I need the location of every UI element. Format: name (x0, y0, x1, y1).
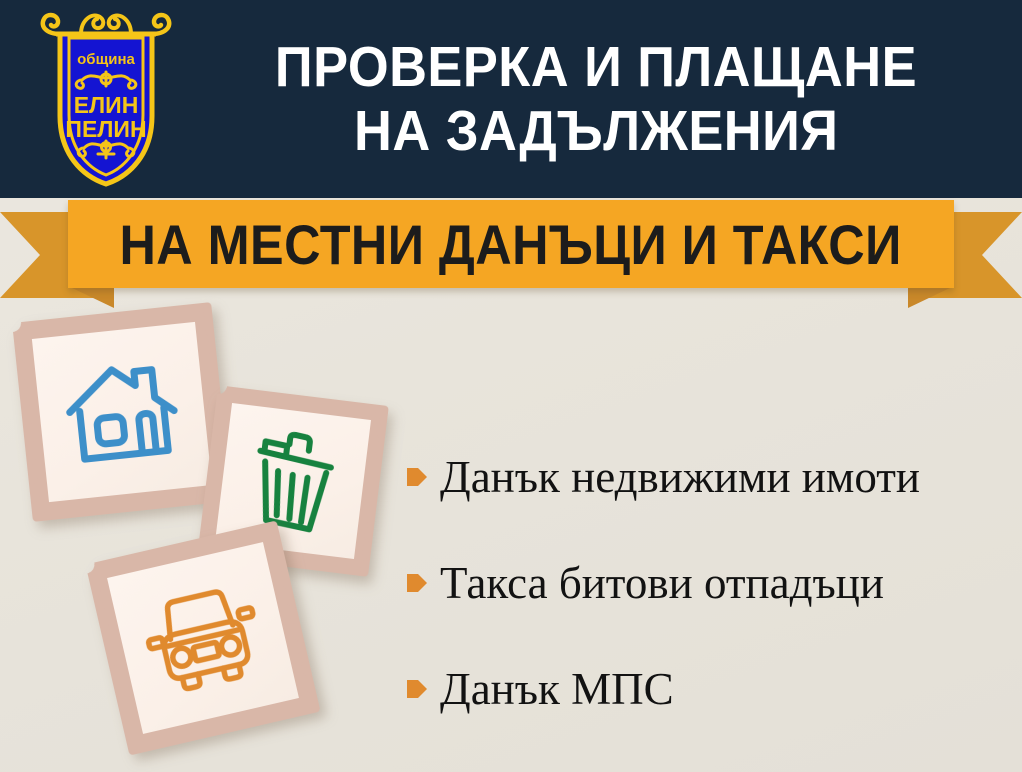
stamp-scallop (302, 387, 322, 407)
stamp-face-house (32, 322, 212, 502)
stamp-scallop (118, 544, 140, 566)
list-item[interactable]: Такса битови отпадъци (402, 530, 1020, 636)
stamp-scallop (300, 657, 322, 679)
stamp-scallop (371, 456, 391, 476)
stamp-scallop (365, 507, 385, 527)
house-icon (61, 354, 183, 469)
stamp-scallop (9, 376, 29, 396)
stamp-scallop (97, 649, 119, 671)
stamp-scallop (135, 540, 157, 562)
stamp-scallop (280, 570, 302, 592)
stamp-scallop (336, 391, 356, 411)
crest-top-label: община (77, 51, 135, 68)
stamp-scallop (232, 719, 254, 741)
ribbon-label: НА МЕСТНИ ДАНЪЦИ И ТАКСИ (120, 212, 902, 277)
stamp-scallop (204, 319, 224, 339)
arrow-bullet-icon (402, 674, 432, 704)
list-item[interactable]: Данък недвижими имоти (402, 424, 1020, 530)
stamp-scallop (109, 701, 131, 723)
stamp-scallop (81, 580, 103, 602)
stamp-scallop (123, 502, 143, 522)
stamp-scallop (376, 422, 396, 442)
stamp-scallop (234, 378, 254, 398)
stamp-scallop (3, 322, 23, 342)
stamp-scallop (361, 541, 381, 561)
list-item[interactable]: Данък МПС (402, 636, 1020, 742)
stamp-scallop (284, 588, 306, 610)
stamp-scallop (369, 473, 389, 493)
stamp-scallop (285, 385, 305, 405)
stamp-scallop (367, 490, 387, 510)
stamp-scallop (208, 355, 228, 375)
stamp-scallop (332, 564, 352, 584)
page-title: ПРОВЕРКА И ПЛАЩАНЕ НА ЗАДЪЛЖЕНИЯ (186, 0, 1006, 198)
stamp-scallop (29, 310, 49, 330)
stamp-scallop (104, 503, 124, 523)
stamp-scallop (206, 337, 226, 357)
ribbon-banner: НА МЕСТНИ ДАНЪЦИ И ТАКСИ (68, 200, 954, 288)
stamp-scallop (68, 507, 88, 527)
stamp-scallop (177, 496, 197, 516)
stamp-scallop (117, 736, 139, 758)
stamp-scallop (288, 605, 310, 627)
list-item-label: Такса битови отпадъци (440, 559, 884, 607)
services-list: Данък недвижими имоти Такса битови отпад… (402, 424, 1020, 742)
stamp-scallop (319, 389, 339, 409)
stamp-house (12, 302, 232, 522)
stamp-scallop (251, 380, 271, 400)
arrow-bullet-icon (402, 462, 432, 492)
stamp-scallop (11, 394, 31, 414)
header-band: община ЕЛИН ПЕЛИН ПРОВЕРКА И ПЛАЩАНЕ НА … (0, 0, 1022, 198)
stamp-scallop (101, 548, 123, 570)
stamp-scallop (145, 739, 167, 761)
trash-bin-icon (241, 426, 345, 536)
stamp-scallop (170, 532, 192, 554)
stamp-scallop (304, 675, 326, 697)
stamp-scallop (159, 498, 179, 518)
stamp-scallop (15, 431, 35, 451)
stamp-scallop (20, 485, 40, 505)
stamp-scallop (214, 723, 236, 745)
stamp-scallop (192, 503, 212, 523)
stamp-scallop (268, 382, 288, 402)
car-front-icon (135, 576, 271, 700)
stamp-scallop (296, 640, 318, 662)
stamp-scallop (13, 413, 33, 433)
coat-of-arms-icon: община ЕЛИН ПЕЛИН (36, 8, 176, 190)
stamp-scallop (7, 358, 27, 378)
stamp-scallop (153, 536, 175, 558)
stamp-border-house (12, 302, 232, 522)
stamp-scallop (16, 449, 36, 469)
stamp-scallop (18, 467, 38, 487)
stamp-scallop (47, 308, 67, 328)
list-item-label: Данък МПС (440, 665, 674, 713)
crest-name-line1: ЕЛИН (74, 92, 139, 118)
stamp-scallop (5, 340, 25, 360)
stamp-scallop (374, 439, 394, 459)
stamp-scallop (85, 597, 107, 619)
crest-name-line2: ПЕЛИН (65, 116, 146, 142)
stamp-scallop (93, 632, 115, 654)
stamp-scallop (315, 562, 335, 582)
stamp-scallop (113, 719, 135, 741)
header-inner: община ЕЛИН ПЕЛИН ПРОВЕРКА И ПЛАЩАНЕ НА … (0, 0, 1022, 198)
stamp-scallop (353, 393, 373, 413)
list-item-label: Данък недвижими имоти (440, 453, 920, 501)
stamp-scallop (292, 623, 314, 645)
page-title-line-2: НА ЗАДЪЛЖЕНИЯ (354, 99, 838, 163)
stamp-scallop (298, 559, 318, 579)
stamp-scallop (363, 524, 383, 544)
subtitle-ribbon: НА МЕСТНИ ДАНЪЦИ И ТАКСИ (0, 198, 1022, 310)
arrow-bullet-icon (402, 568, 432, 598)
stamp-scallop (89, 615, 111, 637)
stamp-scallop (50, 509, 70, 529)
stamp-face-car (107, 542, 299, 734)
stamp-scallop (86, 505, 106, 525)
stamp-scallop (378, 405, 398, 425)
stamp-scallop (101, 667, 123, 689)
page-title-line-1: ПРОВЕРКА И ПЛАЩАНЕ (275, 35, 917, 99)
stamp-scallop (141, 500, 161, 520)
poster-canvas: община ЕЛИН ПЕЛИН ПРОВЕРКА И ПЛАЩАНЕ НА … (0, 0, 1022, 772)
